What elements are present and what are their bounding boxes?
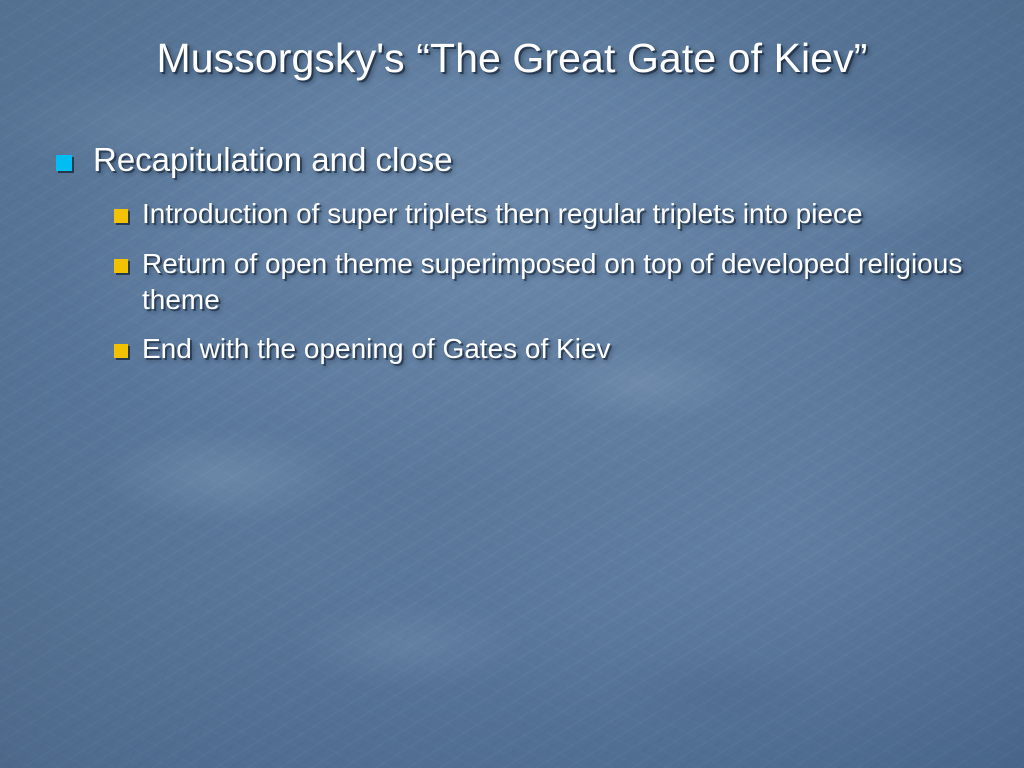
bullet-item-level2: Introduction of super triplets then regu…: [114, 196, 984, 232]
bullet-text: Introduction of super triplets then regu…: [142, 196, 863, 232]
slide-title: Mussorgsky's “The Great Gate of Kiev”: [0, 36, 1024, 81]
bullet-item-level2: End with the opening of Gates of Kiev: [114, 331, 984, 367]
square-bullet-gold-icon: [114, 344, 128, 358]
bullet-text: Recapitulation and close: [93, 140, 453, 180]
square-bullet-cyan-icon: [56, 155, 72, 171]
presentation-slide: Mussorgsky's “The Great Gate of Kiev” Re…: [0, 0, 1024, 768]
bullet-list: Recapitulation and close Introduction of…: [56, 140, 984, 381]
bullet-item-level2: Return of open theme superimposed on top…: [114, 246, 984, 319]
slide-content: Mussorgsky's “The Great Gate of Kiev” Re…: [0, 0, 1024, 768]
square-bullet-gold-icon: [114, 209, 128, 223]
bullet-text: Return of open theme superimposed on top…: [142, 246, 982, 319]
bullet-text: End with the opening of Gates of Kiev: [142, 331, 611, 367]
square-bullet-gold-icon: [114, 259, 128, 273]
bullet-item-level1: Recapitulation and close: [56, 140, 984, 180]
